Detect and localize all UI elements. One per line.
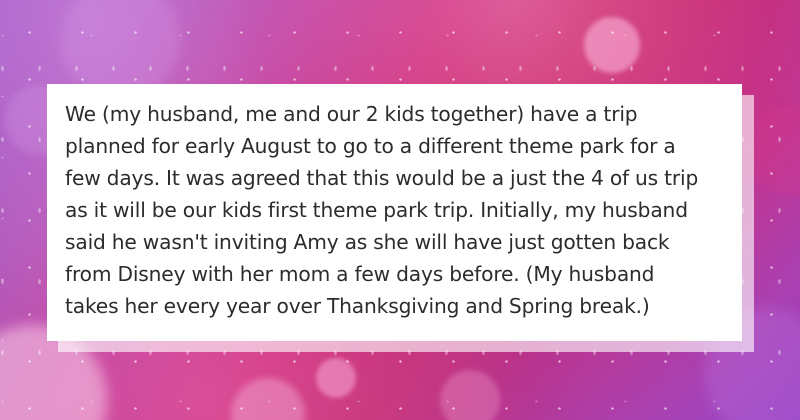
quote-card: We (my husband, me and our 2 kids togeth…	[47, 84, 742, 341]
image-canvas: We (my husband, me and our 2 kids togeth…	[0, 0, 800, 420]
quote-text: We (my husband, me and our 2 kids togeth…	[65, 98, 716, 322]
